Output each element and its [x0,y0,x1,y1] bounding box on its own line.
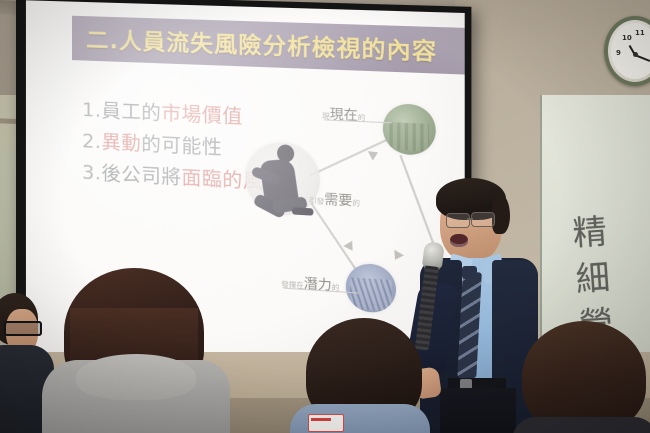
diagram-label-prefix: 引發 [309,197,324,206]
bullet-number: 2. [82,130,101,153]
diagram-label-need: 引發需要的 [309,187,360,210]
bullet-text-highlight: 市場價值 [161,102,242,128]
presenter-trousers [440,388,516,433]
bullet-text-highlight: 異動 [101,131,141,155]
clock-numeral-10: 10 [622,34,632,42]
audience-hood [76,354,196,400]
bullet-text-plain: 後公司將 [101,162,181,189]
presenter-mouth [450,234,468,247]
audience-member-mid [300,318,425,433]
bullet-number: 3. [82,161,101,184]
clock-numeral-9: 9 [616,49,621,57]
presenter-glasses-right-lens [471,212,495,227]
audience-member-right [520,321,650,433]
diagram-node-team-photo [383,103,436,156]
presenter-glasses-bridge [467,218,473,220]
diagram-arrow-icon [368,148,381,161]
lecture-hall-photo: 精 細 營 11 10 9 二.人員流失風險分析檢視的內容 1.員工的市場價值 [0,0,650,433]
presenter-tie-knot [462,266,477,279]
diagram-node-crowd-photo [346,262,396,313]
silhouette-foot [292,207,313,215]
bullet-number: 1. [82,99,101,122]
clock-numeral-11: 11 [635,29,645,37]
audience-body [512,417,650,433]
diagram-label-suffix: 的 [352,199,360,208]
clock-face: 11 10 9 [611,23,650,79]
bullet-text-plain: 的可能性 [141,133,222,159]
audience-name-badge [308,414,344,432]
bullet-text-plain: 員工的 [101,100,161,125]
presenter-glasses-left-lens [446,213,470,228]
clock-center-pin [633,52,638,57]
audience-member-grey-hoodie [36,268,226,433]
diagram-label-main: 需要 [324,192,352,209]
